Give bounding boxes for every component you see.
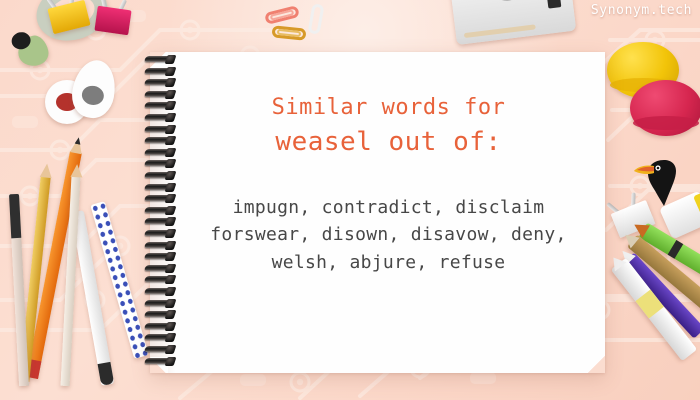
binder-clip-pink: [94, 6, 131, 35]
spiral-coil: [143, 184, 175, 191]
spiral-knob: [165, 357, 177, 366]
spiral-coil: [143, 300, 175, 307]
page-corner-bottom-right: [585, 355, 605, 373]
spiral-coil: [143, 91, 175, 98]
spiral-knob: [165, 67, 177, 76]
spiral-coil: [143, 242, 175, 249]
spiral-knob: [165, 299, 177, 308]
spiral-knob: [165, 159, 177, 168]
spiral-knob: [165, 229, 177, 238]
synonym-list: impugn, contradict, disclaim forswear, d…: [180, 194, 597, 276]
spiral-coil: [143, 195, 175, 202]
synonym-line-2: forswear, disown, disavow, deny,: [180, 221, 597, 248]
macaron-pink: [630, 80, 700, 136]
spiral-knob: [165, 90, 177, 99]
spiral-coil: [143, 230, 175, 237]
spiral-knob: [165, 171, 177, 180]
spiral-knob: [165, 345, 177, 354]
spiral-coil: [143, 126, 175, 133]
title-line-1: Similar words for: [180, 94, 597, 122]
brand-logo: Synonym.tech: [591, 3, 692, 18]
spiral-knob: [165, 125, 177, 134]
synonym-line-1: impugn, contradict, disclaim: [180, 194, 597, 221]
spiral-coil: [143, 276, 175, 283]
spiral-knob: [165, 333, 177, 342]
spiral-coil: [143, 137, 175, 144]
spiral-knob: [165, 206, 177, 215]
spiral-knob: [165, 217, 177, 226]
spiral-coil: [143, 102, 175, 109]
spiral-coil: [143, 288, 175, 295]
spiral-coil: [143, 79, 175, 86]
spiral-coil: [143, 218, 175, 225]
spiral-coil: [143, 323, 175, 330]
spiral-coil: [143, 149, 175, 156]
spiral-knob: [165, 78, 177, 87]
spiral-knob: [165, 113, 177, 122]
spiral-coil: [143, 358, 175, 365]
screenshot-canvas: Similar words for weasel out of: impugn,…: [0, 0, 700, 400]
spiral-coil: [143, 114, 175, 121]
spiral-coil: [143, 160, 175, 167]
spiral-knob: [165, 322, 177, 331]
synonym-line-3: welsh, abjure, refuse: [180, 249, 597, 276]
spiral-coil: [143, 172, 175, 179]
spiral-knob: [165, 264, 177, 273]
spiral-coil: [143, 334, 175, 341]
notebook-page: Similar words for weasel out of: impugn,…: [150, 52, 605, 373]
spiral-knob: [165, 252, 177, 261]
headword-title: weasel out of:: [180, 126, 597, 159]
spiral-knob: [165, 183, 177, 192]
spiral-coil: [143, 311, 175, 318]
spiral-coil: [143, 56, 175, 63]
spiral-knob: [165, 287, 177, 296]
spiral-coil: [143, 346, 175, 353]
spiral-coil: [143, 207, 175, 214]
spiral-coil: [143, 68, 175, 75]
spiral-binding: [143, 56, 177, 369]
spiral-knob: [165, 241, 177, 250]
spiral-knob: [165, 194, 177, 203]
spiral-knob: [165, 55, 177, 64]
spiral-coil: [143, 253, 175, 260]
spiral-knob: [165, 310, 177, 319]
card-content: Similar words for weasel out of: impugn,…: [180, 52, 597, 276]
spiral-coil: [143, 265, 175, 272]
notebook: Similar words for weasel out of: impugn,…: [150, 52, 605, 373]
spiral-knob: [165, 275, 177, 284]
spiral-knob: [165, 136, 177, 145]
spiral-knob: [165, 101, 177, 110]
spiral-knob: [165, 148, 177, 157]
